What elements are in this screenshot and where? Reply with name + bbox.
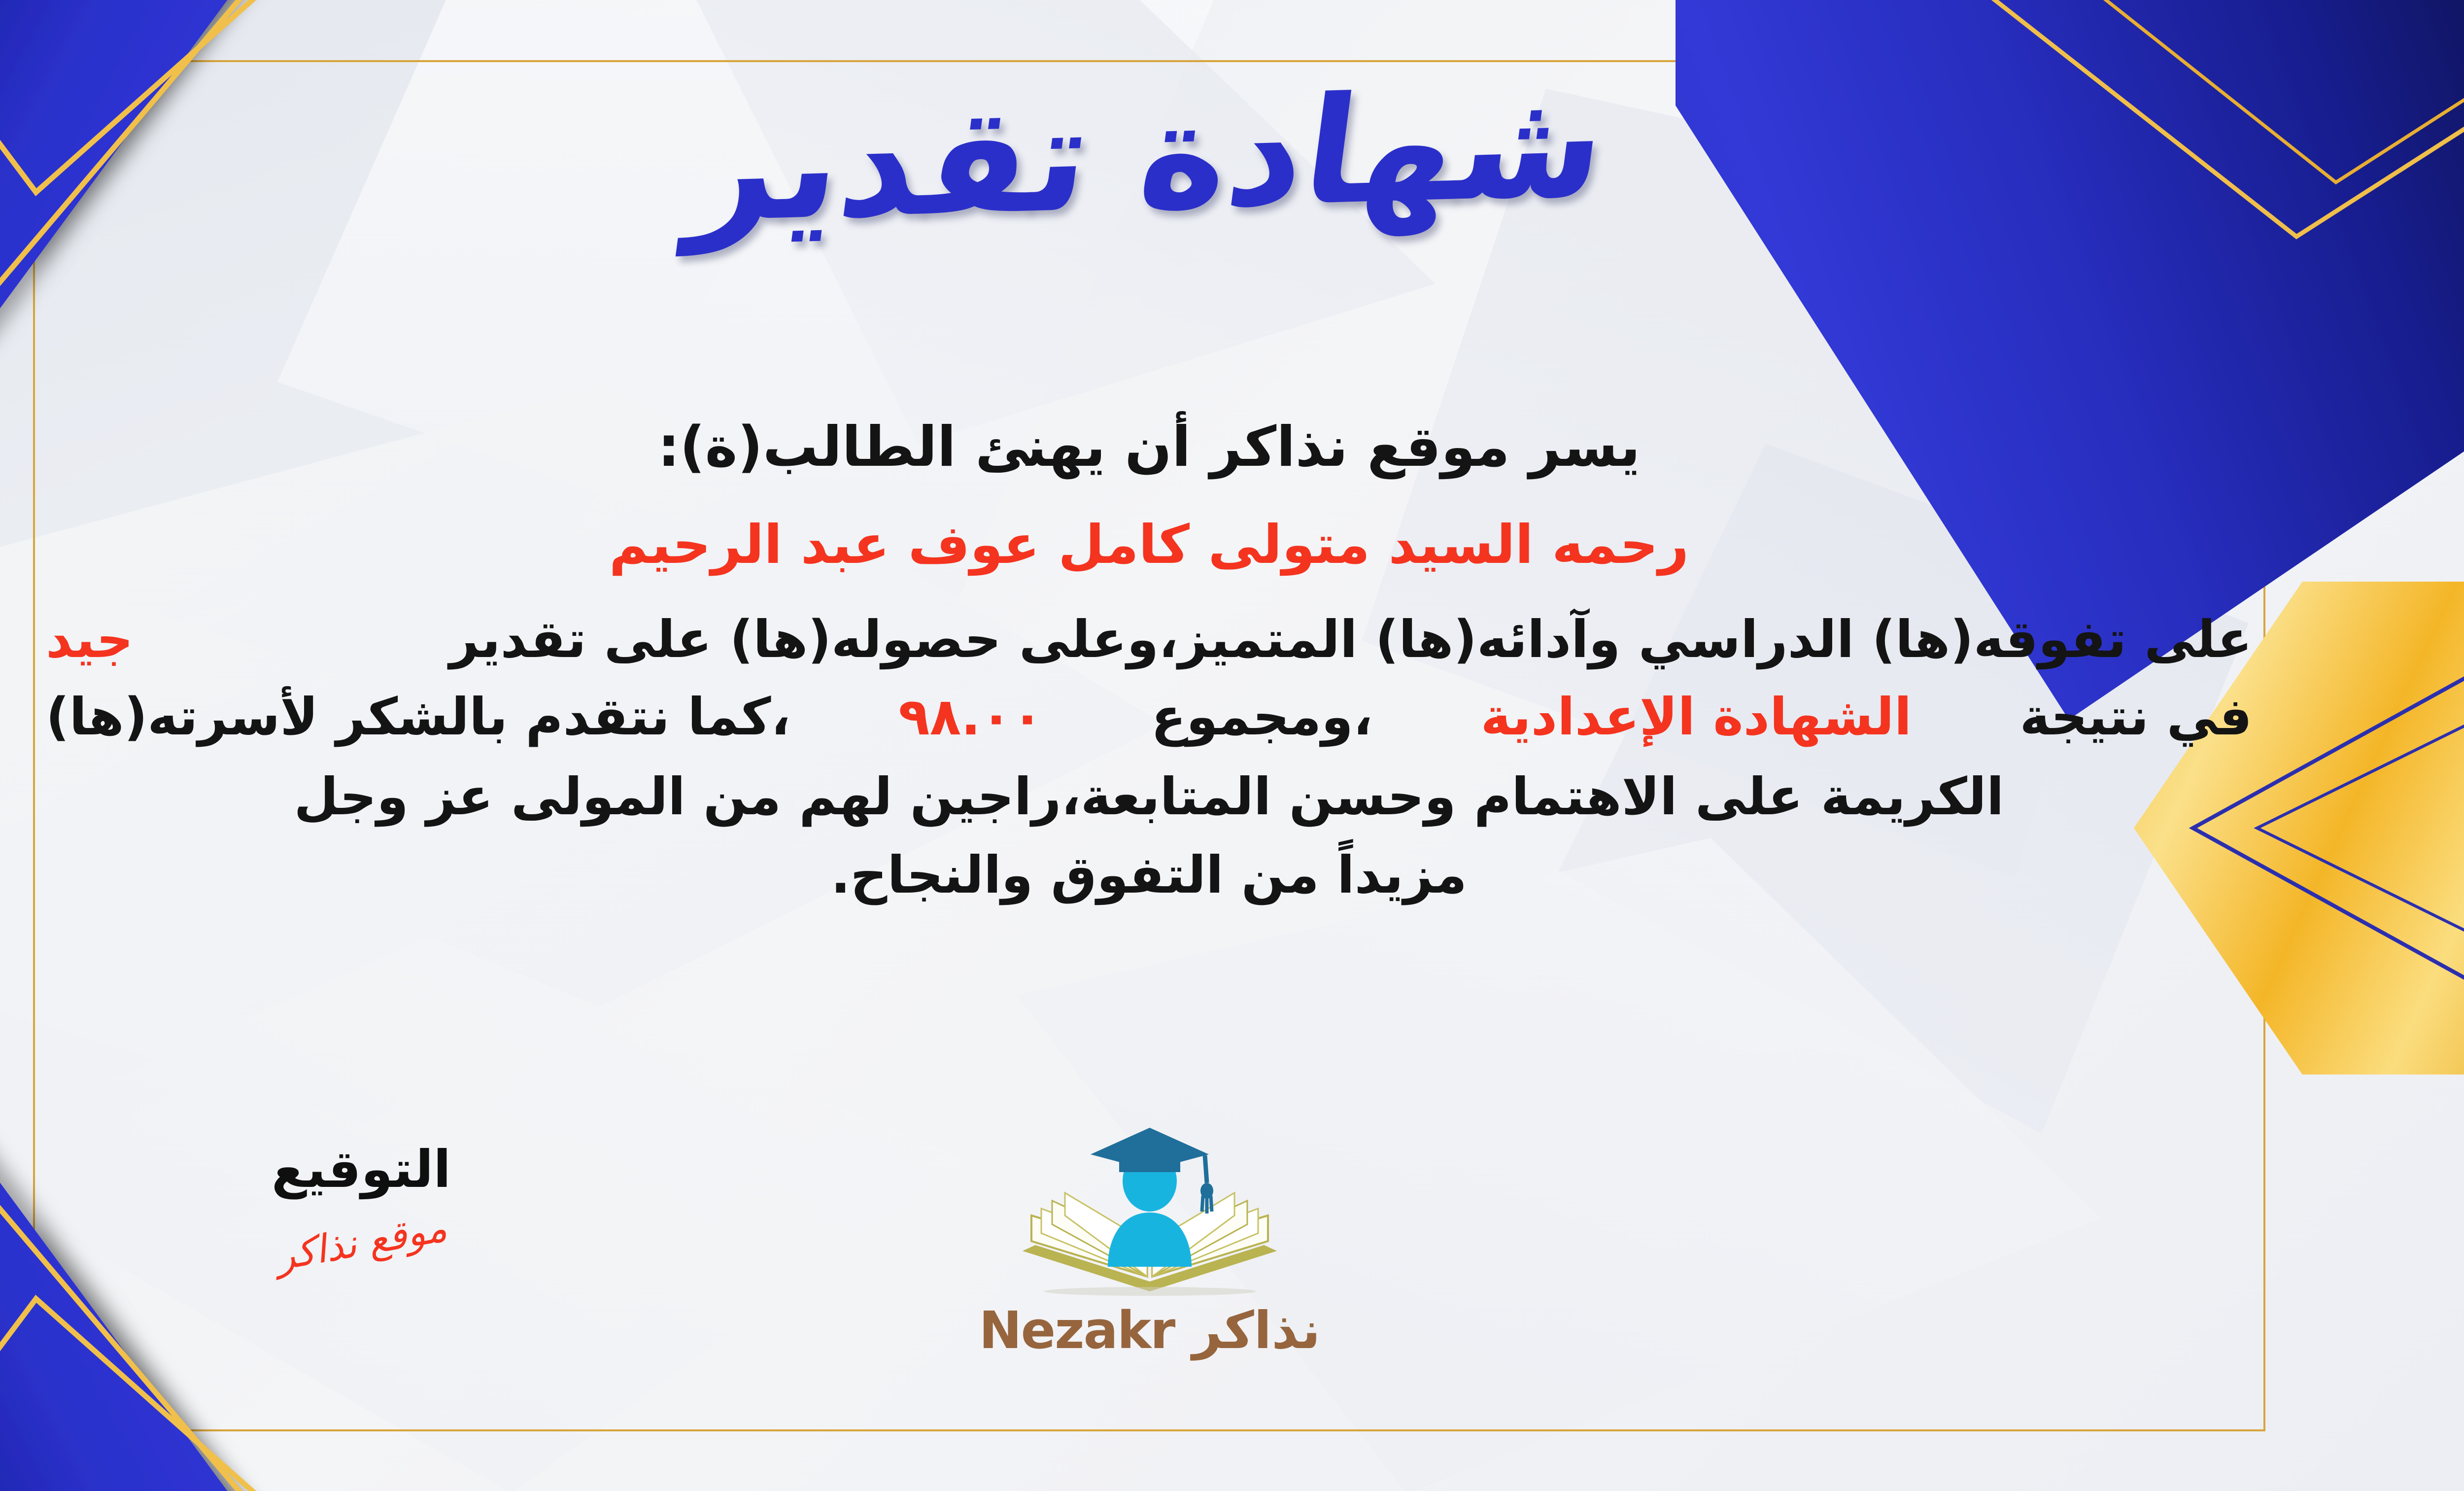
family-thanks-line: الكريمة على الاهتمام وحسن المتابعة،راجين… <box>46 762 2252 832</box>
thanks-text: ،كما نتقدم بالشكر لأسرته(ها) <box>46 682 790 753</box>
site-logo: نذاكر Nezakr <box>977 1119 1322 1360</box>
grade-value: جيد <box>46 604 133 675</box>
certificate-canvas: شهادة تقدير يسر موقع نذاكر أن يهنئ الطال… <box>0 0 2464 1491</box>
total-label: ،ومجموع <box>1151 682 1372 753</box>
result-prefix: في نتيجة <box>2019 682 2252 753</box>
intro-line: يسر موقع نذاكر أن يهنئ الطالب(ة): <box>46 409 2252 485</box>
signature-label: التوقيع <box>208 1144 514 1195</box>
achievement-line: على تفوقه(ها) الدراسي وآدائه(ها) المتميز… <box>46 604 2252 675</box>
page-title: شهادة تقدير <box>683 61 1616 252</box>
certificate-title-area: شهادة تقدير <box>0 74 2464 240</box>
signature-block: التوقيع موقع نذاكر <box>208 1144 514 1265</box>
result-line: في نتيجة الشهادة الإعدادية ،ومجموع ٩٨.٠٠… <box>46 682 2252 753</box>
closing-line: مزيداً من التفوق والنجاح. <box>46 840 2252 911</box>
achievement-text: على تفوقه(ها) الدراسي وآدائه(ها) المتميز… <box>449 604 2252 675</box>
figure-body <box>1108 1213 1192 1267</box>
logo-wordmark: نذاكر Nezakr <box>977 1300 1322 1360</box>
tassel-fringe <box>1202 1196 1212 1214</box>
exam-name: الشهادة الإعدادية <box>1481 682 1912 753</box>
logo-shadow <box>1044 1287 1256 1296</box>
graduate-book-icon <box>1012 1119 1288 1296</box>
mortarboard <box>1091 1128 1209 1170</box>
student-name: رحمه السيد متولى كامل عوف عبد الرحيم <box>46 508 2252 582</box>
graduate-book-logo-icon <box>1012 1119 1288 1296</box>
tassel-cord <box>1205 1155 1207 1183</box>
score-value: ٩٨.٠٠ <box>898 682 1043 753</box>
certificate-body: يسر موقع نذاكر أن يهنئ الطالب(ة): رحمه ا… <box>46 409 2252 911</box>
